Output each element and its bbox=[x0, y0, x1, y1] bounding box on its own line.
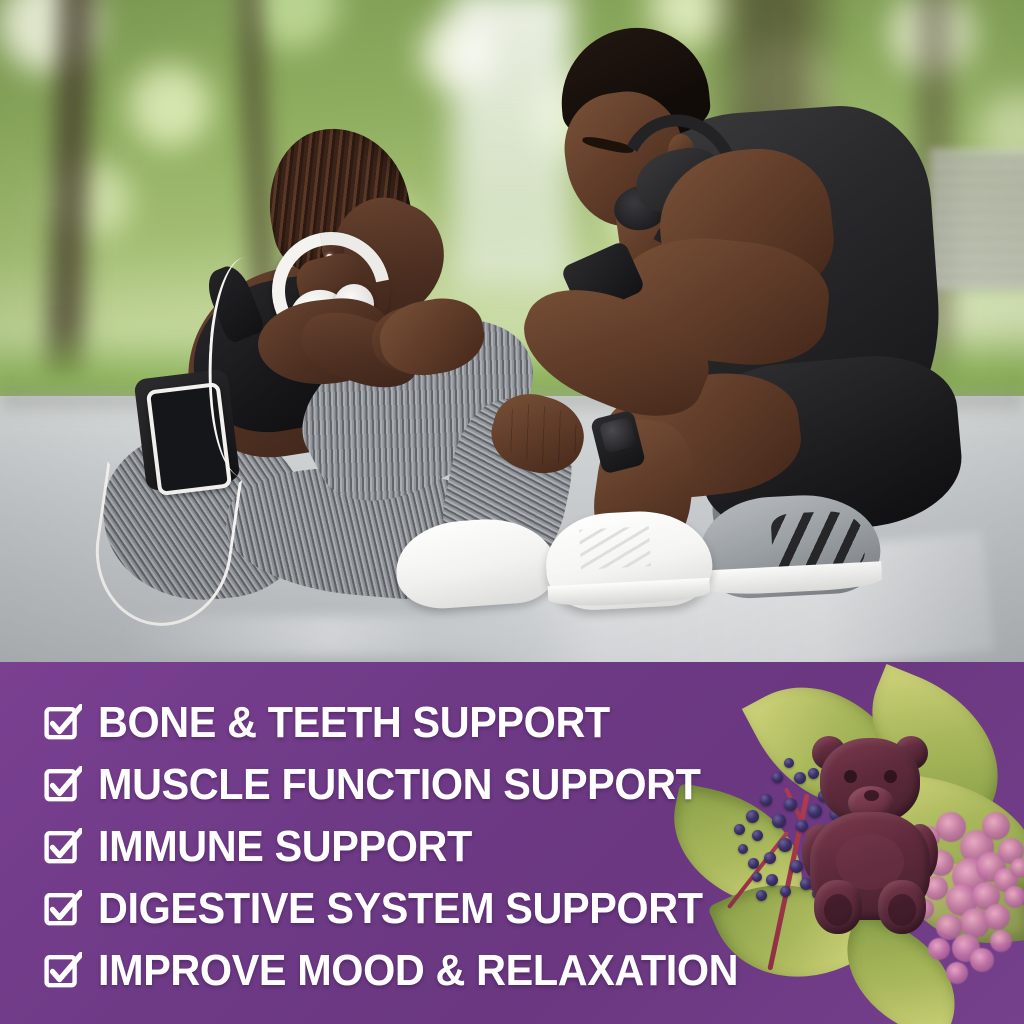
benefits-banner: BONE & TEETH SUPPORTMUSCLE FUNCTION SUPP… bbox=[0, 662, 1024, 1024]
checkbox-checked-icon bbox=[44, 704, 82, 742]
elderflower-floret bbox=[984, 904, 1010, 930]
checkbox-checked-icon bbox=[44, 766, 82, 804]
elderflower-floret bbox=[990, 930, 1012, 952]
benefit-row: IMMUNE SUPPORT bbox=[44, 816, 904, 878]
lifestyle-photo bbox=[0, 0, 1024, 662]
benefits-checklist: BONE & TEETH SUPPORTMUSCLE FUNCTION SUPP… bbox=[44, 692, 904, 1002]
benefit-row: MUSCLE FUNCTION SUPPORT bbox=[44, 754, 904, 816]
background-fence bbox=[930, 150, 1024, 290]
benefit-row: DIGESTIVE SYSTEM SUPPORT bbox=[44, 878, 904, 940]
benefit-row: IMPROVE MOOD & RELAXATION bbox=[44, 940, 904, 1002]
checkbox-checked-icon bbox=[44, 890, 82, 928]
elderflower-floret bbox=[928, 938, 950, 960]
woman-sneaker-laces bbox=[579, 526, 651, 570]
elderflower-floret bbox=[970, 948, 994, 972]
elderflower-floret bbox=[946, 962, 968, 984]
benefit-label: IMPROVE MOOD & RELAXATION bbox=[98, 949, 738, 993]
benefit-label: MUSCLE FUNCTION SUPPORT bbox=[98, 763, 701, 807]
elderflower-floret bbox=[1004, 886, 1024, 908]
benefit-row: BONE & TEETH SUPPORT bbox=[44, 692, 904, 754]
benefit-label: DIGESTIVE SYSTEM SUPPORT bbox=[98, 887, 703, 931]
product-banner-page: BONE & TEETH SUPPORTMUSCLE FUNCTION SUPP… bbox=[0, 0, 1024, 1024]
elderflower-floret bbox=[1010, 858, 1024, 878]
elderflower-floret bbox=[982, 812, 1010, 840]
benefit-label: IMMUNE SUPPORT bbox=[98, 825, 472, 869]
benefit-label: BONE & TEETH SUPPORT bbox=[98, 701, 610, 745]
background-building bbox=[452, 0, 572, 290]
checkbox-checked-icon bbox=[44, 828, 82, 866]
checkbox-checked-icon bbox=[44, 952, 82, 990]
